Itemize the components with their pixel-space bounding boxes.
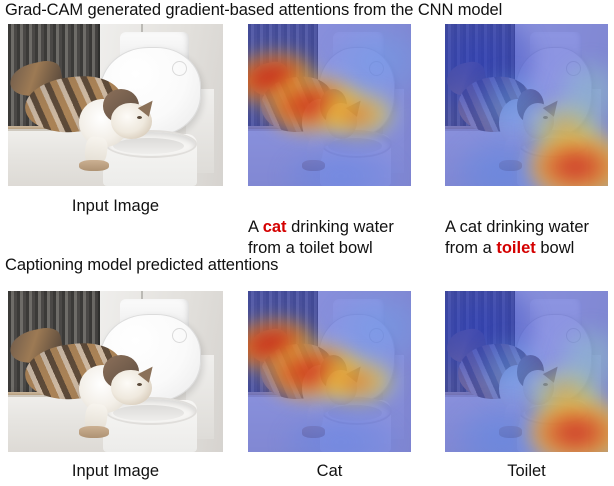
cat-eye bbox=[543, 383, 548, 386]
cat bbox=[248, 24, 411, 186]
caption-gradcam-toilet: A cat drinking water from a toilet bowl bbox=[445, 196, 614, 259]
bathroom-scene bbox=[445, 291, 608, 452]
cat-eye bbox=[137, 383, 142, 386]
caption-gradcam-cat: A cat drinking water from a toilet bowl bbox=[248, 196, 433, 259]
caption-keyword-cat: cat bbox=[263, 218, 287, 236]
bathroom-scene bbox=[248, 291, 411, 452]
captioning-section-heading: Captioning model predicted attentions bbox=[5, 256, 278, 275]
caption-suffix: bowl bbox=[536, 239, 575, 257]
caption-input-image-top: Input Image bbox=[8, 196, 223, 217]
caption-predicted-cat: Cat bbox=[248, 461, 411, 482]
input-image-panel-bottom bbox=[8, 291, 223, 452]
cat-paw bbox=[79, 426, 109, 437]
cat-paw bbox=[499, 160, 522, 171]
figure-root: Grad-CAM generated gradient-based attent… bbox=[0, 0, 614, 486]
bathroom-scene bbox=[8, 24, 223, 186]
bathroom-scene bbox=[8, 291, 223, 452]
cat bbox=[445, 24, 608, 186]
gradcam-section-heading: Grad-CAM generated gradient-based attent… bbox=[5, 1, 502, 20]
predicted-cat-panel bbox=[248, 291, 411, 452]
gradcam-toilet-panel bbox=[445, 24, 608, 186]
bathroom-scene bbox=[445, 24, 608, 186]
cat bbox=[8, 291, 223, 452]
cat bbox=[8, 24, 223, 186]
caption-prefix: A bbox=[248, 218, 263, 236]
bathroom-scene bbox=[248, 24, 411, 186]
caption-predicted-toilet: Toilet bbox=[445, 461, 608, 482]
input-image-panel-top bbox=[8, 24, 223, 186]
cat bbox=[248, 291, 411, 452]
cat-paw bbox=[79, 160, 109, 171]
predicted-toilet-panel bbox=[445, 291, 608, 452]
cat-paw bbox=[302, 426, 325, 437]
caption-input-image-bottom: Input Image bbox=[8, 461, 223, 482]
cat bbox=[445, 291, 608, 452]
gradcam-cat-panel bbox=[248, 24, 411, 186]
caption-keyword-toilet: toilet bbox=[496, 239, 535, 257]
cat-paw bbox=[302, 160, 325, 171]
cat-paw bbox=[499, 426, 522, 437]
